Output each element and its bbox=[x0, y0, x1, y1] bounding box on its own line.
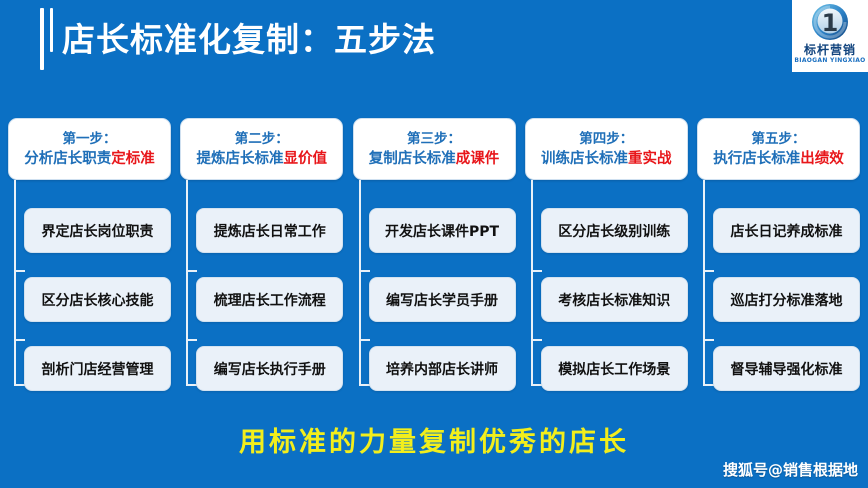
step-desc-main-5: 执行店长标准 bbox=[713, 151, 800, 167]
brand-logo: 1 标杆营销 BIAOGAN YINGXIAO bbox=[792, 0, 868, 72]
list-item[interactable]: 梳理店长工作流程 bbox=[196, 277, 343, 322]
list-item[interactable]: 开发店长课件PPT bbox=[369, 208, 516, 253]
list-item[interactable]: 提炼店长日常工作 bbox=[196, 208, 343, 253]
connector-spine bbox=[186, 180, 188, 386]
list-item[interactable]: 剖析门店经营管理 bbox=[24, 346, 171, 391]
step-desc-2: 提炼店长标准显价值 bbox=[197, 149, 328, 169]
list-item[interactable]: 编写店长学员手册 bbox=[369, 277, 516, 322]
step-desc-accent-2: 显价值 bbox=[284, 151, 328, 167]
step-desc-accent-3: 成课件 bbox=[456, 151, 500, 167]
connector-spine bbox=[703, 180, 705, 386]
step-desc-accent-4: 重实战 bbox=[628, 151, 672, 167]
logo-name-en: BIAOGAN YINGXIAO bbox=[794, 57, 865, 65]
list-item[interactable]: 区分店长级别训练 bbox=[541, 208, 688, 253]
watermark: 搜狐号@销售根据地 bbox=[723, 459, 858, 480]
step-items-4: 区分店长级别训练 考核店长标准知识 模拟店长工作场景 bbox=[541, 208, 688, 391]
connector-spine bbox=[359, 180, 361, 386]
step-header-3[interactable]: 第三步： 复制店长标准成课件 bbox=[353, 118, 516, 180]
title-accent-bar-tall bbox=[40, 8, 44, 70]
step-header-2[interactable]: 第二步： 提炼店长标准显价值 bbox=[180, 118, 343, 180]
list-item[interactable]: 店长日记养成标准 bbox=[713, 208, 860, 253]
slide-header: 店长标准化复制：五步法 bbox=[0, 0, 868, 78]
step-label-1: 第一步： bbox=[63, 130, 117, 149]
step-header-1[interactable]: 第一步： 分析店长职责定标准 bbox=[8, 118, 171, 180]
list-item[interactable]: 培养内部店长讲师 bbox=[369, 346, 516, 391]
step-desc-3: 复制店长标准成课件 bbox=[369, 149, 500, 169]
logo-circle-one-icon: 1 bbox=[810, 2, 850, 42]
step-desc-main-1: 分析店长职责 bbox=[24, 151, 111, 167]
list-item[interactable]: 界定店长岗位职责 bbox=[24, 208, 171, 253]
step-desc-accent-5: 出绩效 bbox=[800, 151, 844, 167]
step-items-1: 界定店长岗位职责 区分店长核心技能 剖析门店经营管理 bbox=[24, 208, 171, 391]
footer-slogan: 用标准的力量复制优秀的店长 bbox=[0, 420, 868, 459]
step-desc-main-2: 提炼店长标准 bbox=[197, 151, 284, 167]
step-header-4[interactable]: 第四步： 训练店长标准重实战 bbox=[525, 118, 688, 180]
step-column-4: 第四步： 训练店长标准重实战 区分店长级别训练 考核店长标准知识 模拟店长工作场… bbox=[525, 118, 688, 400]
step-column-3: 第三步： 复制店长标准成课件 开发店长课件PPT 编写店长学员手册 培养内部店长… bbox=[353, 118, 516, 400]
connector-spine bbox=[531, 180, 533, 386]
step-desc-accent-1: 定标准 bbox=[111, 151, 155, 167]
step-column-1: 第一步： 分析店长职责定标准 界定店长岗位职责 区分店长核心技能 剖析门店经营管… bbox=[8, 118, 171, 400]
step-label-5: 第五步： bbox=[752, 130, 806, 149]
step-label-4: 第四步： bbox=[579, 130, 633, 149]
step-desc-main-4: 训练店长标准 bbox=[541, 151, 628, 167]
step-column-2: 第二步： 提炼店长标准显价值 提炼店长日常工作 梳理店长工作流程 编写店长执行手… bbox=[180, 118, 343, 400]
logo-name-cn: 标杆营销 bbox=[804, 43, 856, 57]
step-header-5[interactable]: 第五步： 执行店长标准出绩效 bbox=[697, 118, 860, 180]
step-items-3: 开发店长课件PPT 编写店长学员手册 培养内部店长讲师 bbox=[369, 208, 516, 391]
step-desc-1: 分析店长职责定标准 bbox=[24, 149, 155, 169]
step-desc-5: 执行店长标准出绩效 bbox=[713, 149, 844, 169]
five-step-columns: 第一步： 分析店长职责定标准 界定店长岗位职责 区分店长核心技能 剖析门店经营管… bbox=[8, 118, 860, 400]
list-item[interactable]: 考核店长标准知识 bbox=[541, 277, 688, 322]
step-desc-main-3: 复制店长标准 bbox=[369, 151, 456, 167]
step-column-5: 第五步： 执行店长标准出绩效 店长日记养成标准 巡店打分标准落地 督导辅导强化标… bbox=[697, 118, 860, 400]
svg-text:1: 1 bbox=[822, 9, 839, 37]
list-item[interactable]: 督导辅导强化标准 bbox=[713, 346, 860, 391]
connector-spine bbox=[14, 180, 16, 386]
slide-root: 店长标准化复制：五步法 bbox=[0, 0, 868, 488]
step-items-5: 店长日记养成标准 巡店打分标准落地 督导辅导强化标准 bbox=[713, 208, 860, 391]
step-label-2: 第二步： bbox=[235, 130, 289, 149]
title-accent-bar-short bbox=[50, 8, 53, 52]
step-label-3: 第三步： bbox=[407, 130, 461, 149]
list-item[interactable]: 模拟店长工作场景 bbox=[541, 346, 688, 391]
page-title: 店长标准化复制：五步法 bbox=[62, 12, 702, 68]
list-item[interactable]: 编写店长执行手册 bbox=[196, 346, 343, 391]
list-item[interactable]: 巡店打分标准落地 bbox=[713, 277, 860, 322]
step-desc-4: 训练店长标准重实战 bbox=[541, 149, 672, 169]
step-items-2: 提炼店长日常工作 梳理店长工作流程 编写店长执行手册 bbox=[196, 208, 343, 391]
list-item[interactable]: 区分店长核心技能 bbox=[24, 277, 171, 322]
